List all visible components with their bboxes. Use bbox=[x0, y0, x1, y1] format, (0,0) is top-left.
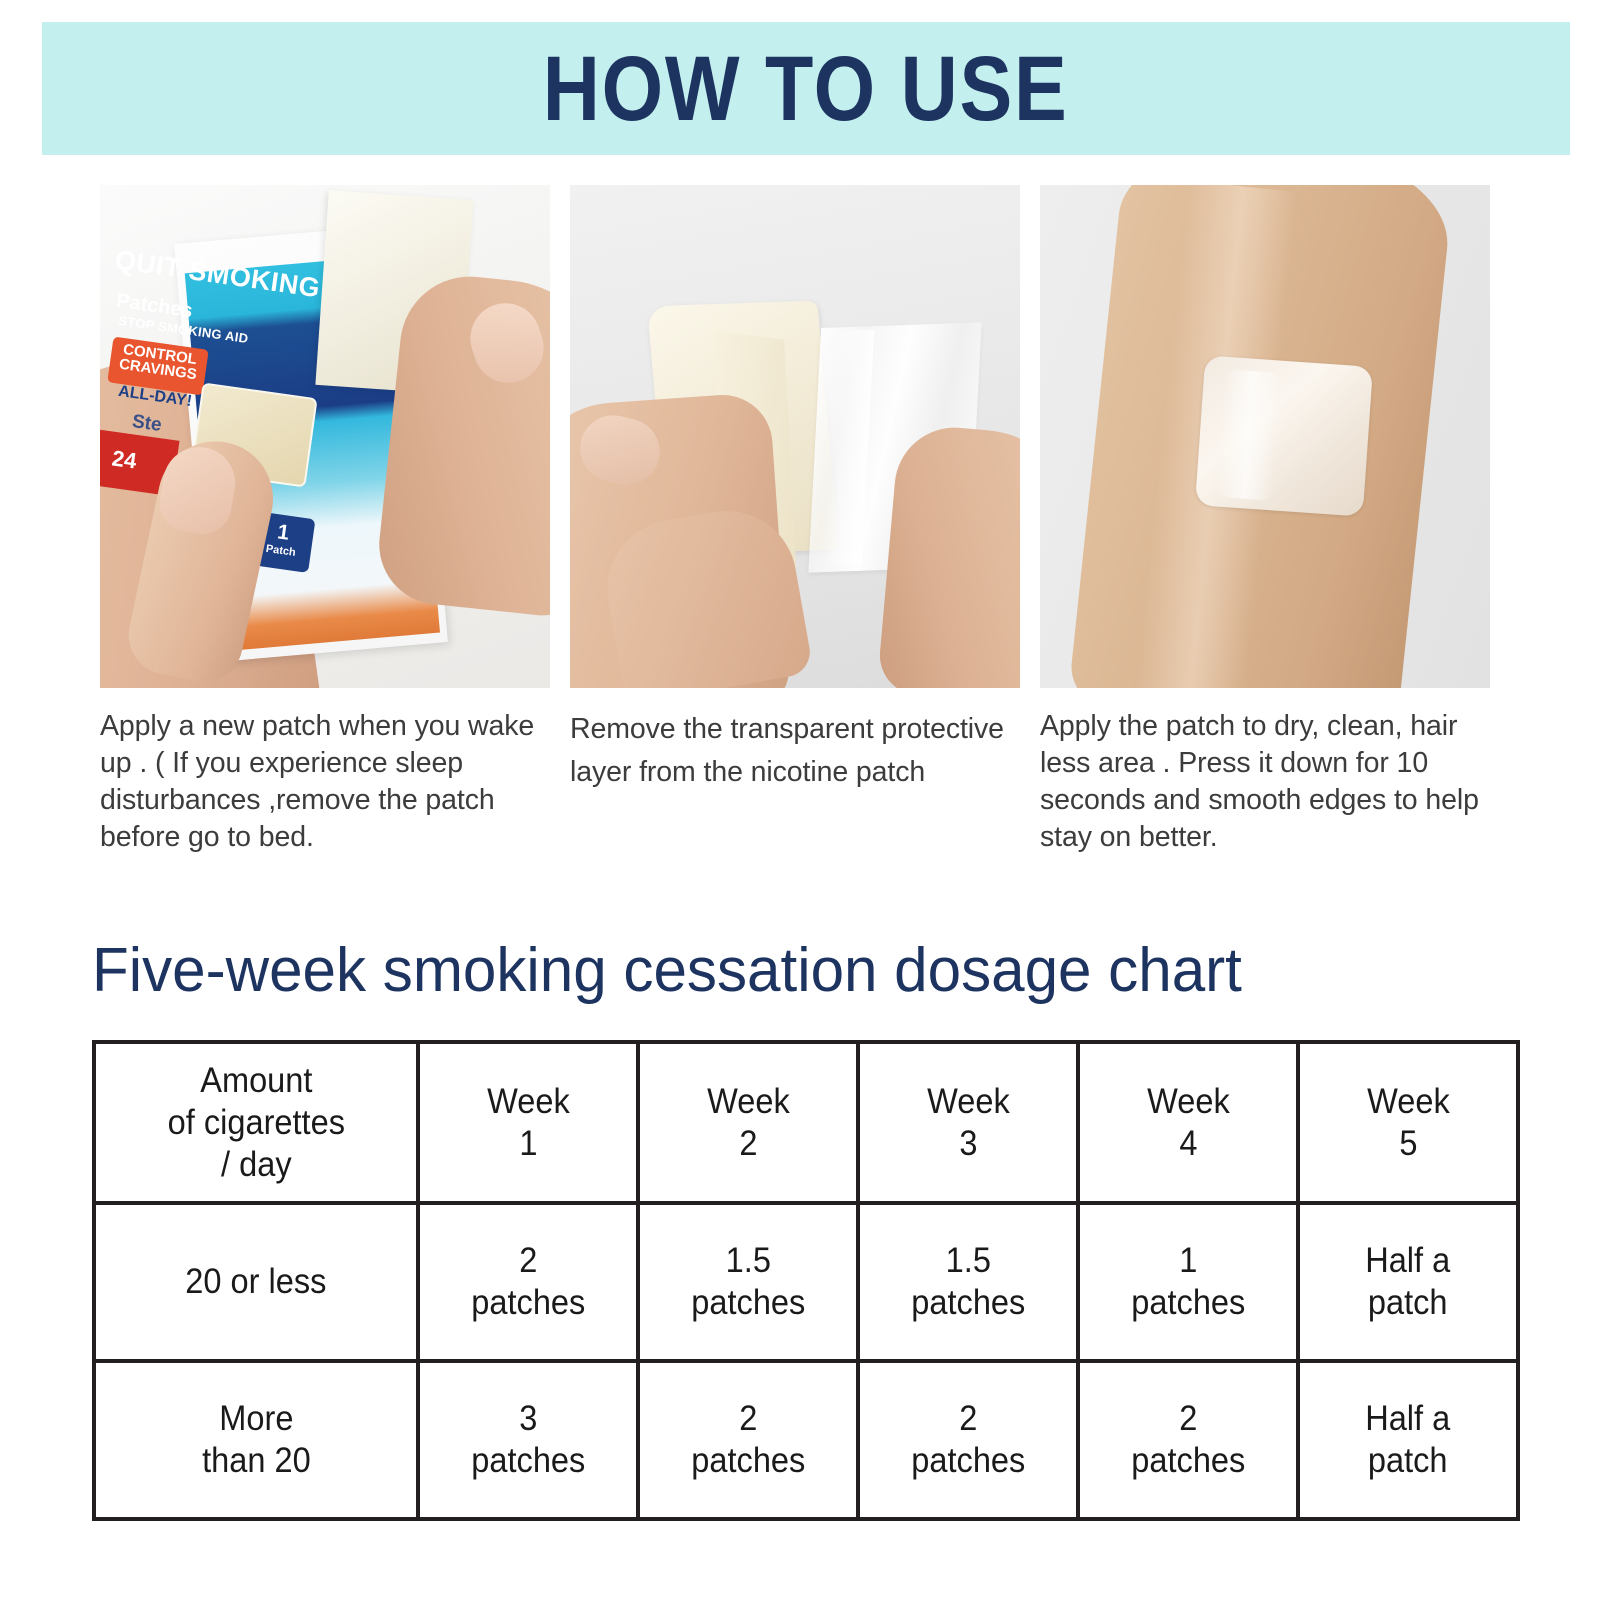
row-1-week-5: Half a patch bbox=[1298, 1203, 1518, 1361]
page-title: HOW TO USE bbox=[543, 43, 1069, 135]
row-1-week-1: 2 patches bbox=[418, 1203, 638, 1361]
applied-patch-highlight bbox=[1216, 369, 1283, 501]
step-2-caption: Remove the transparent protective layer … bbox=[570, 708, 1020, 795]
header-cell-week-5: Week 5 bbox=[1298, 1042, 1518, 1203]
header-cell-amount: Amount of cigarettes / day bbox=[94, 1042, 418, 1203]
row-1-week-3: 1.5 patches bbox=[858, 1203, 1078, 1361]
how-to-use-banner: HOW TO USE bbox=[42, 22, 1570, 155]
row-1-week-2: 1.5 patches bbox=[638, 1203, 858, 1361]
table-row: 20 or less 2 patches 1.5 patches 1.5 pat… bbox=[94, 1203, 1518, 1361]
row-2-week-1: 3 patches bbox=[418, 1361, 638, 1519]
step-3-caption: Apply the patch to dry, clean, hair less… bbox=[1040, 708, 1490, 856]
step-3: Apply the patch to dry, clean, hair less… bbox=[1040, 185, 1490, 856]
ste-label: Ste bbox=[131, 411, 163, 437]
row-2-week-5: Half a patch bbox=[1298, 1361, 1518, 1519]
table-row: More than 20 3 patches 2 patches 2 patch… bbox=[94, 1361, 1518, 1519]
step-1-photo-hand-opening-sachet: QUIT SMOKING Patches STOP SMOKING AID CO… bbox=[100, 185, 550, 688]
row-1-label: 20 or less bbox=[94, 1203, 418, 1361]
step-3-photo-patch-on-arm bbox=[1040, 185, 1490, 688]
dosage-table: Amount of cigarettes / day Week 1 Week 2… bbox=[92, 1040, 1520, 1521]
step-2: Remove the transparent protective layer … bbox=[570, 185, 1020, 856]
steps-row: QUIT SMOKING Patches STOP SMOKING AID CO… bbox=[100, 185, 1490, 856]
step-2-photo-peeling-film bbox=[570, 185, 1020, 688]
header-cell-week-2: Week 2 bbox=[638, 1042, 858, 1203]
dosage-chart-title: Five-week smoking cessation dosage chart bbox=[92, 935, 1450, 1006]
table-header-row: Amount of cigarettes / day Week 1 Week 2… bbox=[94, 1042, 1518, 1203]
row-2-week-4: 2 patches bbox=[1078, 1361, 1298, 1519]
24-hour-label: 24 bbox=[110, 445, 138, 474]
header-cell-week-3: Week 3 bbox=[858, 1042, 1078, 1203]
row-2-label: More than 20 bbox=[94, 1361, 418, 1519]
step-1: QUIT SMOKING Patches STOP SMOKING AID CO… bbox=[100, 185, 550, 856]
step-1-caption: Apply a new patch when you wake up . ( I… bbox=[100, 708, 550, 856]
header-cell-week-1: Week 1 bbox=[418, 1042, 638, 1203]
row-2-week-2: 2 patches bbox=[638, 1361, 858, 1519]
header-cell-week-4: Week 4 bbox=[1078, 1042, 1298, 1203]
row-2-week-3: 2 patches bbox=[858, 1361, 1078, 1519]
row-1-week-4: 1 patches bbox=[1078, 1203, 1298, 1361]
